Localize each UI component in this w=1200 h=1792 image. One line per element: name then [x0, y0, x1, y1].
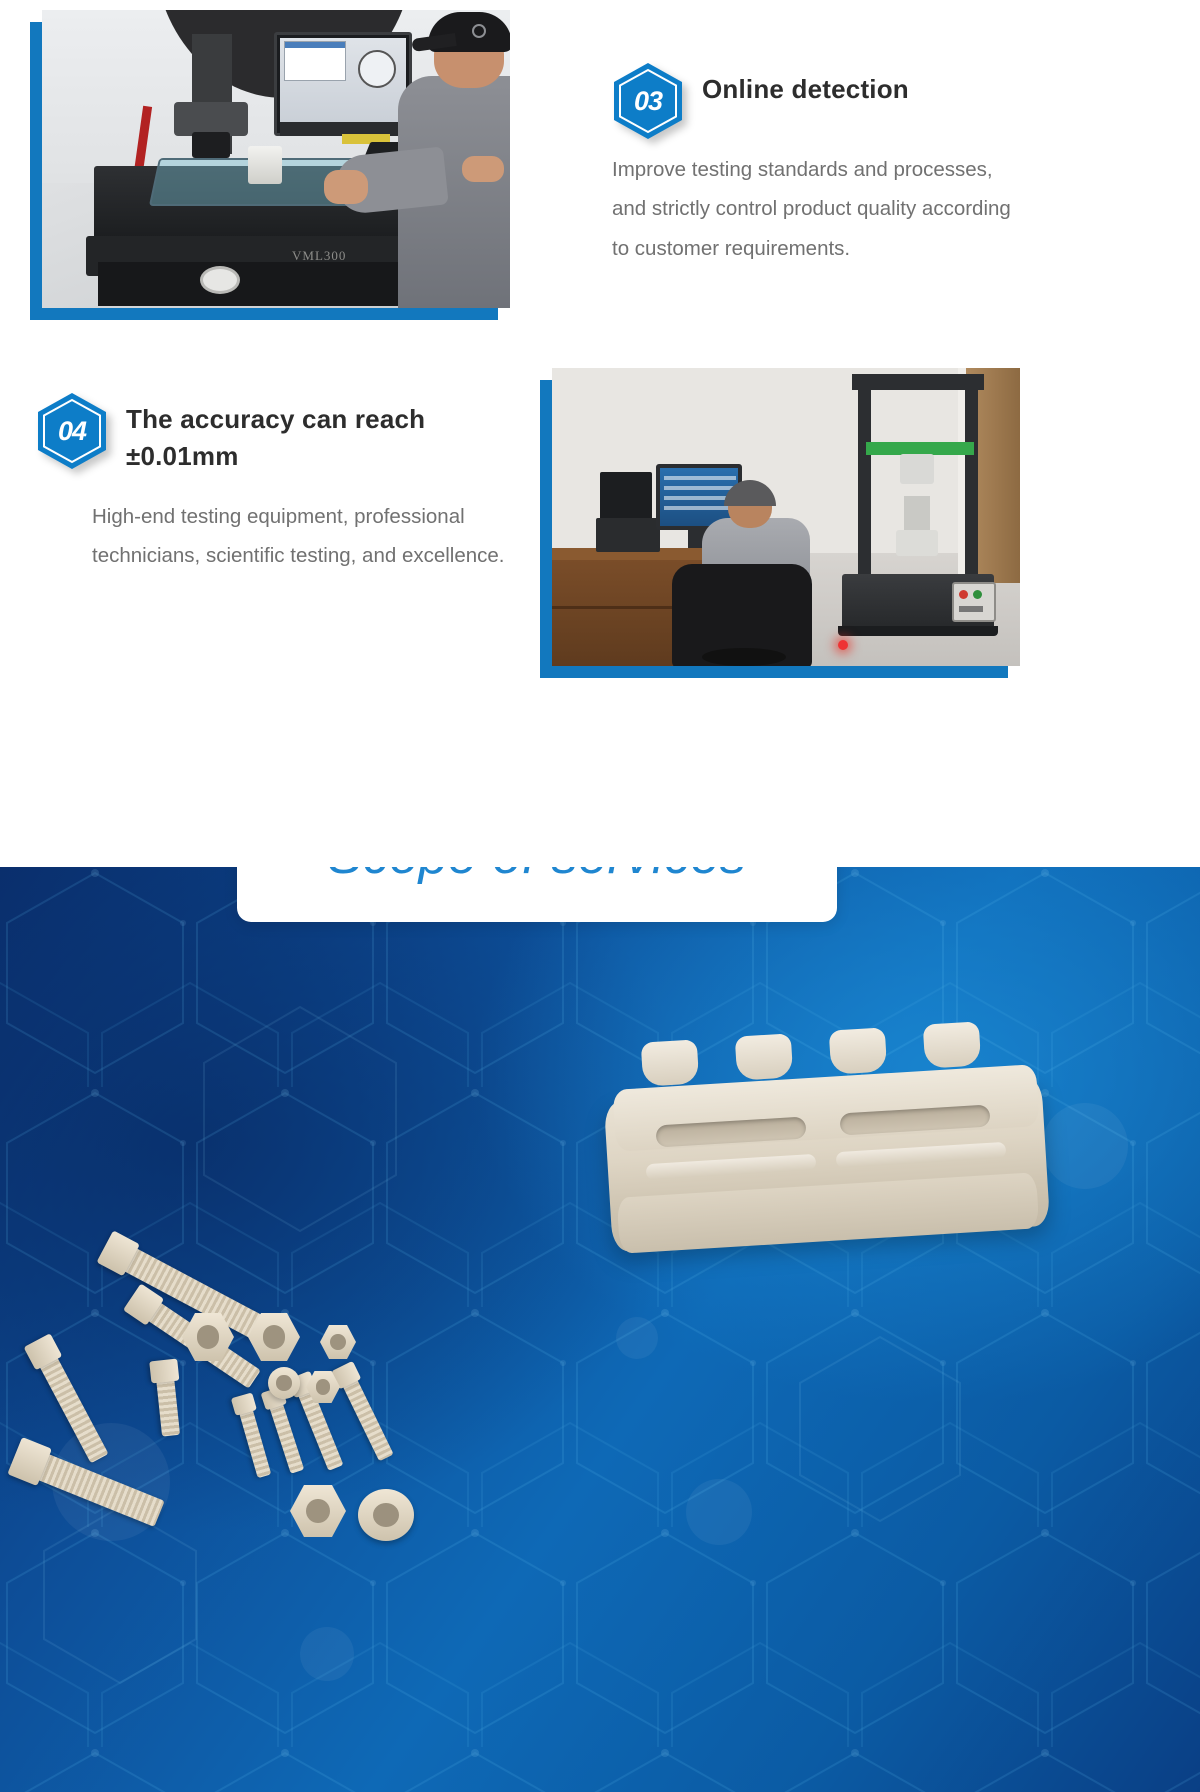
feature-04-body: High-end testing equipment, professional… — [92, 497, 506, 576]
feature-block-04: 04 The accuracy can reach ±0.01mm High-e… — [36, 392, 506, 576]
feature-04-header: 04 The accuracy can reach ±0.01mm — [36, 392, 506, 475]
hexagon-badge-icon-04: 04 — [36, 392, 108, 470]
scope-of-services-section: Scope of services — [0, 867, 1200, 1792]
feature-03-body: Improve testing standards and processes,… — [612, 150, 1022, 268]
photo-online-detection: VML300 — [30, 22, 498, 320]
scope-banner-card: Scope of services — [237, 867, 837, 922]
feature-04-title: The accuracy can reach ±0.01mm — [126, 392, 506, 475]
product-image-peek-chain — [608, 1035, 1046, 1295]
top-features-section: VML300 03 Online detection Improve testi… — [0, 0, 1200, 867]
photo-image-accuracy-testing — [552, 368, 1020, 666]
photo-accuracy-testing — [540, 380, 1008, 678]
hexagon-badge-icon-03: 03 — [612, 62, 684, 140]
feature-03-header: 03 Online detection — [612, 62, 1022, 140]
badge-number-03: 03 — [612, 62, 684, 140]
photo-image-online-detection: VML300 — [42, 10, 510, 308]
feature-03-title: Online detection — [702, 62, 909, 108]
scope-banner-title: Scope of services — [328, 867, 747, 886]
product-image-peek-screws — [38, 1267, 458, 1567]
feature-block-03: 03 Online detection Improve testing stan… — [612, 62, 1022, 268]
badge-number-04: 04 — [36, 392, 108, 470]
